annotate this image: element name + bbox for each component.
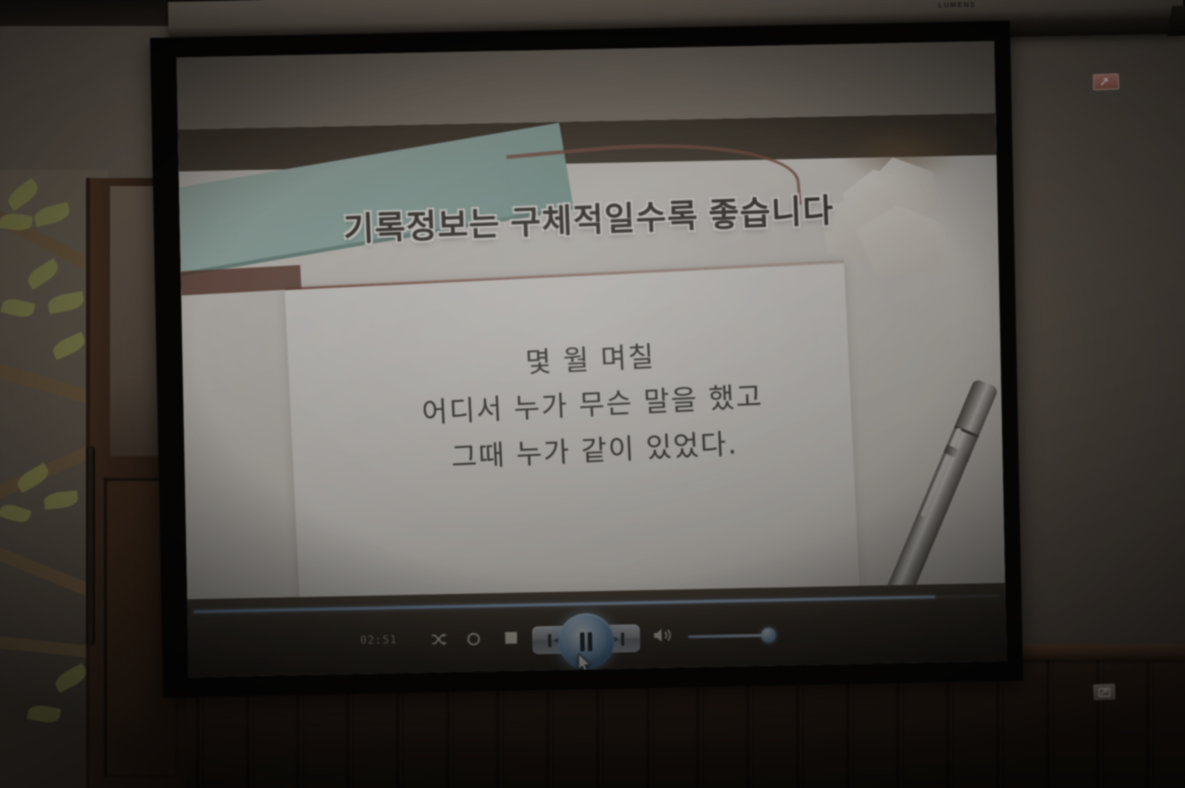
volume-slider[interactable]	[688, 634, 772, 639]
mural-leaf	[50, 332, 88, 360]
volume-slider-knob[interactable]	[761, 628, 776, 643]
restore-window-icon[interactable]	[1093, 684, 1116, 701]
player-controls-row: 02:51	[188, 609, 1007, 669]
video-slide-frame: 기록정보는 구체적일수록 좋습니다 몇 월 며칠 어디서 누가 무슨 말을 했고…	[178, 113, 1005, 599]
mural-leaf	[1, 296, 36, 319]
elapsed-time-label: 02:51	[360, 633, 397, 647]
mural-leaf	[32, 202, 71, 227]
mural-leaf	[47, 291, 85, 314]
projection-screen-canvas: 기록정보는 구체적일수록 좋습니다 몇 월 며칠 어디서 누가 무슨 말을 했고…	[176, 41, 1006, 677]
projection-screen: 기록정보는 구체적일수록 좋습니다 몇 월 며칠 어디서 누가 무슨 말을 했고…	[150, 21, 1023, 698]
mural-leaf	[52, 663, 90, 693]
note-card-top-edge	[285, 261, 844, 290]
repeat-icon[interactable]	[460, 625, 487, 652]
door-handle[interactable]	[86, 446, 95, 646]
mural-leaf	[4, 178, 41, 212]
stop-icon[interactable]	[498, 625, 525, 652]
projected-presentation-photo: LUMENS 기록정보는 구체적일수록 좋습	[0, 0, 1185, 788]
mural-leaf	[0, 502, 32, 526]
red-indicator-label	[1093, 73, 1120, 90]
housing-brand-label: LUMENS	[938, 2, 976, 10]
media-player-control-bar[interactable]: 02:51	[187, 583, 1006, 677]
mural-leaf	[24, 258, 61, 290]
seek-bar-progress	[193, 595, 934, 613]
housing-end-cap	[1167, 5, 1185, 36]
shuffle-icon[interactable]	[426, 626, 453, 653]
mural-leaf	[43, 490, 78, 509]
mouse-cursor	[577, 653, 591, 677]
mural-leaf	[27, 703, 61, 724]
seek-bar[interactable]	[193, 594, 999, 613]
note-card-left-tab	[180, 265, 301, 296]
mute-icon[interactable]	[650, 622, 677, 649]
